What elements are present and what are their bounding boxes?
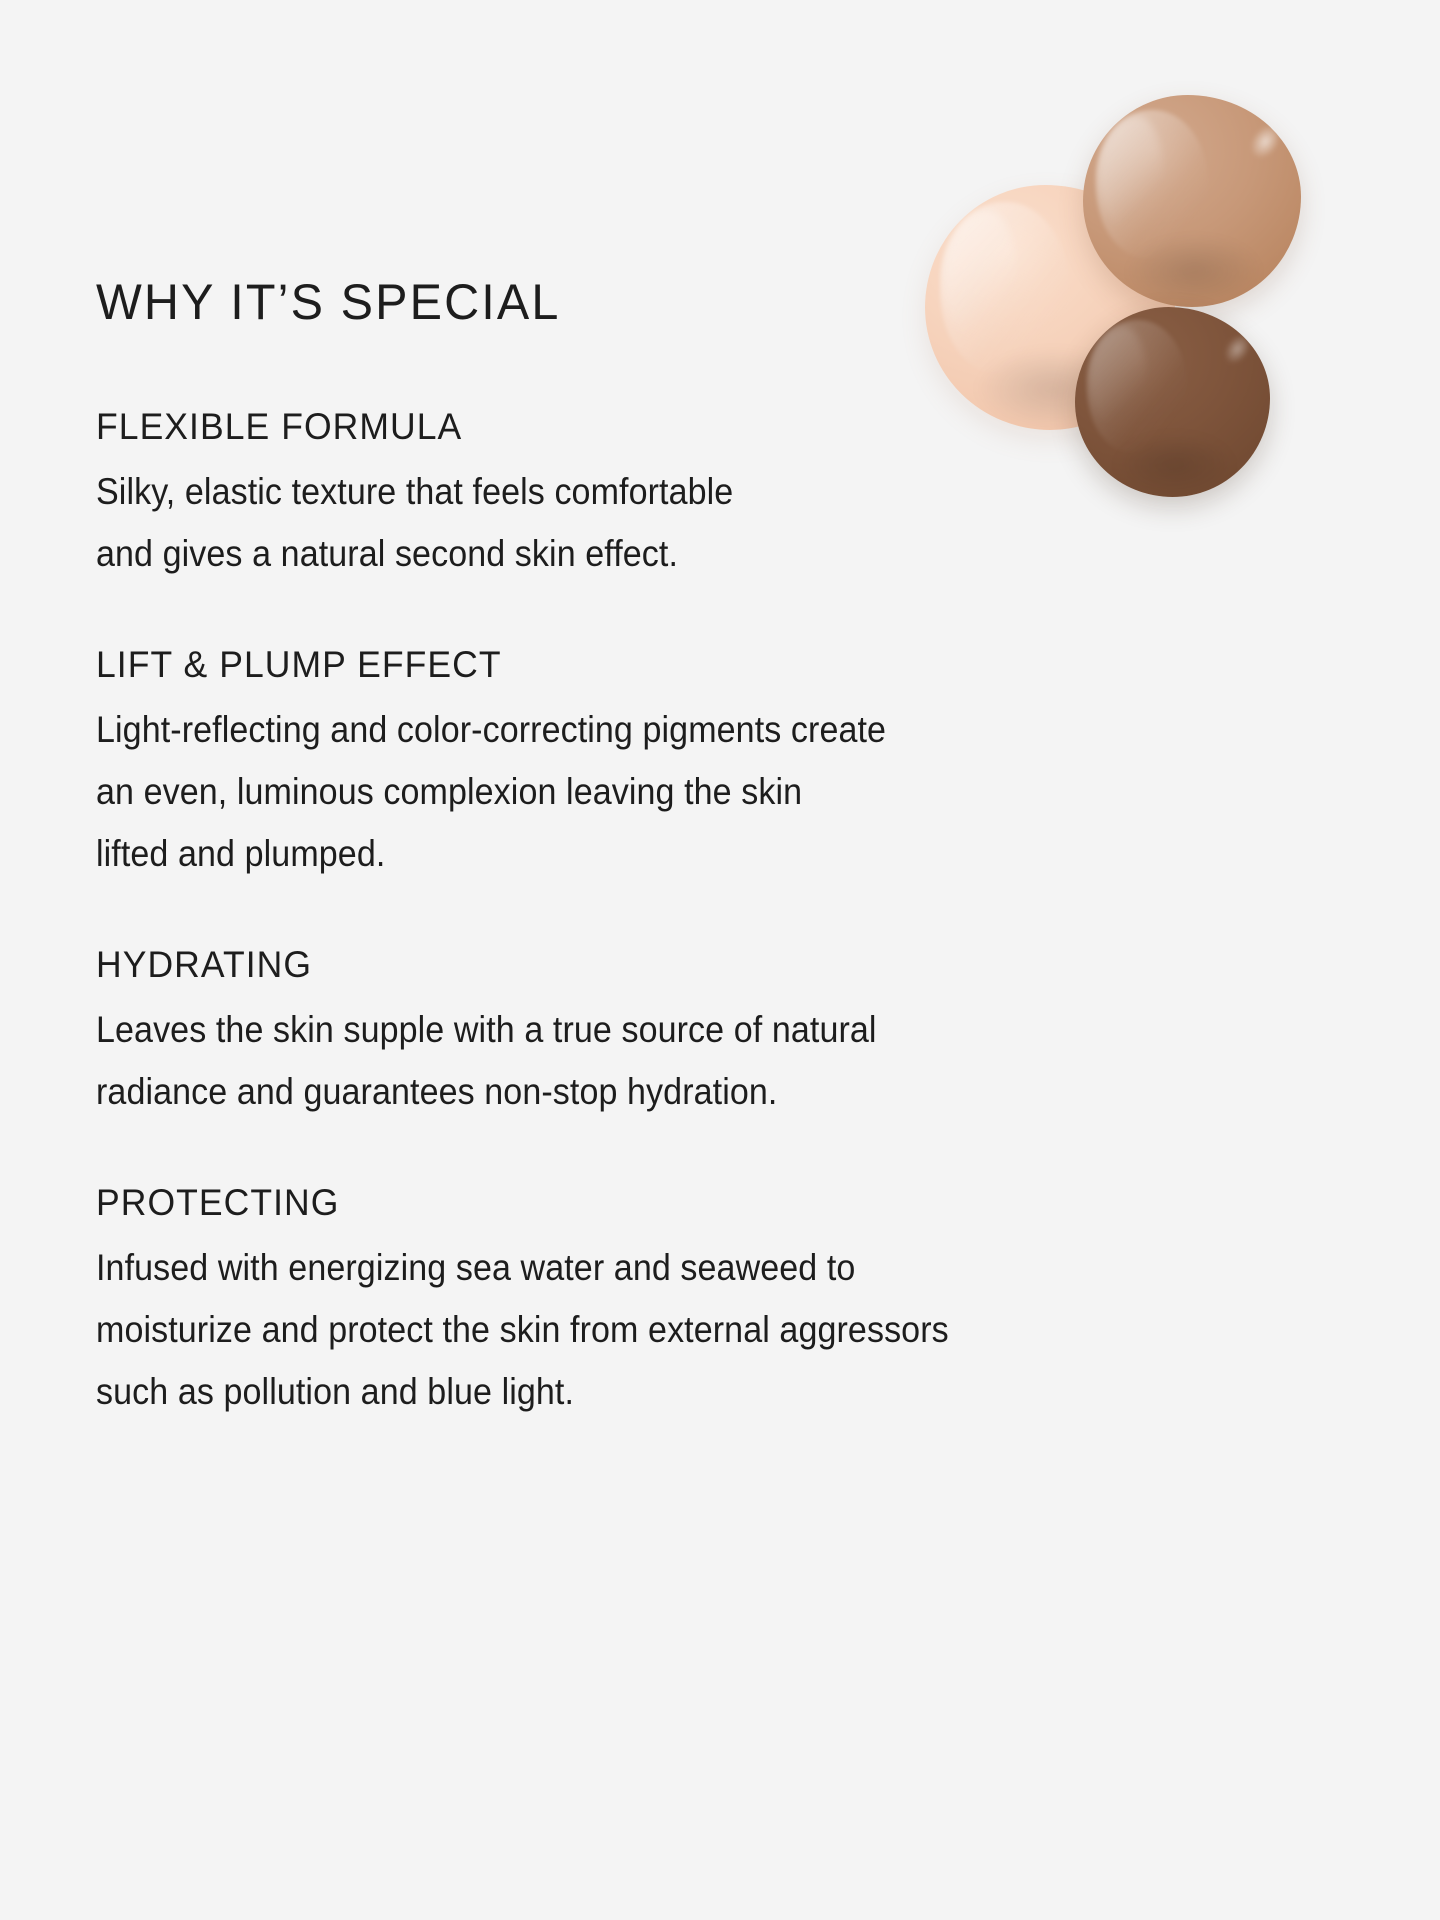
page-title: WHY IT’S SPECIAL [96,276,1357,329]
benefit-body-line: and gives a natural second skin effect. [96,523,1292,585]
benefit-section-protecting: PROTECTING Infused with energizing sea w… [96,1183,1396,1423]
benefit-section-flexible-formula: FLEXIBLE FORMULA Silky, elastic texture … [96,407,1396,585]
benefit-body: Silky, elastic texture that feels comfor… [96,461,1292,585]
benefit-title: LIFT & PLUMP EFFECT [96,645,1344,686]
benefit-body: Leaves the skin supple with a true sourc… [96,999,1292,1123]
product-benefits-page: WHY IT’S SPECIAL FLEXIBLE FORMULA Silky,… [0,0,1440,1920]
benefit-body-line: Light-reflecting and color-correcting pi… [96,699,1292,761]
benefit-body-line: an even, luminous complexion leaving the… [96,761,1292,823]
benefit-body-line: Infused with energizing sea water and se… [96,1237,1292,1299]
benefit-title: HYDRATING [96,945,1344,986]
benefit-section-hydrating: HYDRATING Leaves the skin supple with a … [96,945,1396,1123]
benefits-content: WHY IT’S SPECIAL FLEXIBLE FORMULA Silky,… [96,276,1396,1423]
benefit-body-line: radiance and guarantees non-stop hydrati… [96,1061,1292,1123]
benefit-body: Light-reflecting and color-correcting pi… [96,699,1292,885]
droplet-edge-highlight [1098,116,1163,235]
droplet-specular-highlight [1103,206,1165,272]
benefit-title: FLEXIBLE FORMULA [96,407,1344,448]
benefit-body-line: lifted and plumped. [96,823,1292,885]
benefit-body-line: such as pollution and blue light. [96,1361,1292,1423]
benefit-body-line: moisturize and protect the skin from ext… [96,1299,1292,1361]
benefit-body-line: Silky, elastic texture that feels comfor… [96,461,1292,523]
droplet-sheen [1096,110,1209,258]
benefit-section-lift-plump-effect: LIFT & PLUMP EFFECT Light-reflecting and… [96,645,1396,885]
benefit-body: Infused with energizing sea water and se… [96,1237,1292,1423]
benefit-body-line: Leaves the skin supple with a true sourc… [96,999,1292,1061]
droplet-specular-highlight [1238,113,1292,170]
benefit-title: PROTECTING [96,1183,1344,1224]
